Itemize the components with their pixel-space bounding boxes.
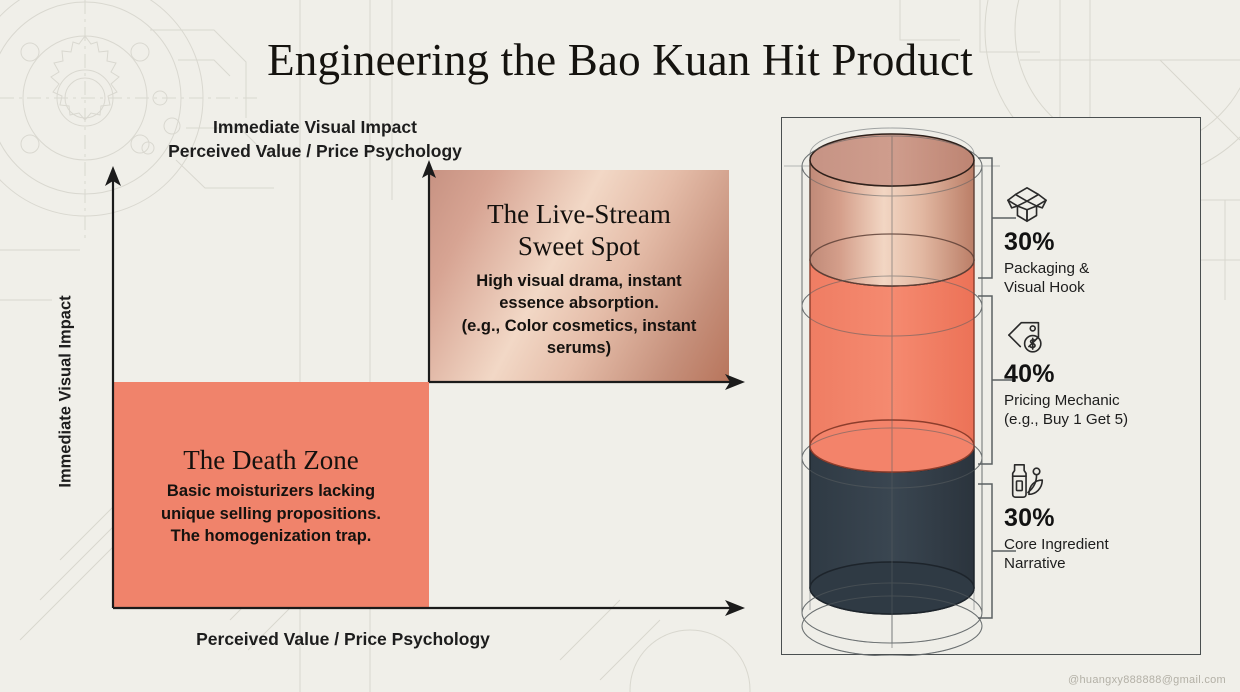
matrix-header-visual-impact: Immediate Visual Impact xyxy=(75,116,555,139)
quadrant-sweet-spot-title: The Live-Stream Sweet Spot xyxy=(487,198,671,263)
quadrant-death-zone-title: The Death Zone xyxy=(183,444,358,476)
legend-percent: 40% xyxy=(1004,361,1200,389)
open-box-icon xyxy=(1004,184,1050,226)
legend-item-pricing: 40% Pricing Mechanic (e.g., Buy 1 Get 5) xyxy=(1004,316,1200,429)
watermark: @huangxy888888@gmail.com xyxy=(1068,674,1226,686)
legend-label: Core Ingredient Narrative xyxy=(1004,535,1200,573)
legend-label: Packaging & Visual Hook xyxy=(1004,259,1200,297)
matrix-y-axis-label: Immediate Visual Impact xyxy=(57,277,76,507)
legend-percent: 30% xyxy=(1004,229,1200,257)
legend-item-packaging: 30% Packaging & Visual Hook xyxy=(1004,184,1200,297)
stacked-cylinder-diagram xyxy=(782,118,1002,656)
legend-percent: 30% xyxy=(1004,505,1200,533)
legend-item-ingredient: 30% Core Ingredient Narrative xyxy=(1004,460,1200,573)
quadrant-sweet-spot: The Live-Stream Sweet Spot High visual d… xyxy=(429,170,729,382)
quadrant-sweet-spot-body: High visual drama, instant essence absor… xyxy=(462,270,697,360)
matrix-x-axis-label: Perceived Value / Price Psychology xyxy=(143,629,543,650)
price-tag-dollar-icon xyxy=(1004,316,1050,358)
composition-panel: 30% Packaging & Visual Hook 40% Pricing … xyxy=(781,117,1201,655)
quadrant-matrix: Immediate Visual Impact Perceived Value … xyxy=(0,0,770,692)
ingredient-bottle-leaf-icon xyxy=(1004,460,1050,502)
quadrant-death-zone: The Death Zone Basic moisturizers lackin… xyxy=(113,382,429,608)
legend-label: Pricing Mechanic (e.g., Buy 1 Get 5) xyxy=(1004,391,1200,429)
quadrant-death-zone-body: Basic moisturizers lacking unique sellin… xyxy=(161,480,381,547)
matrix-header-perceived-value: Perceived Value / Price Psychology xyxy=(75,140,555,163)
